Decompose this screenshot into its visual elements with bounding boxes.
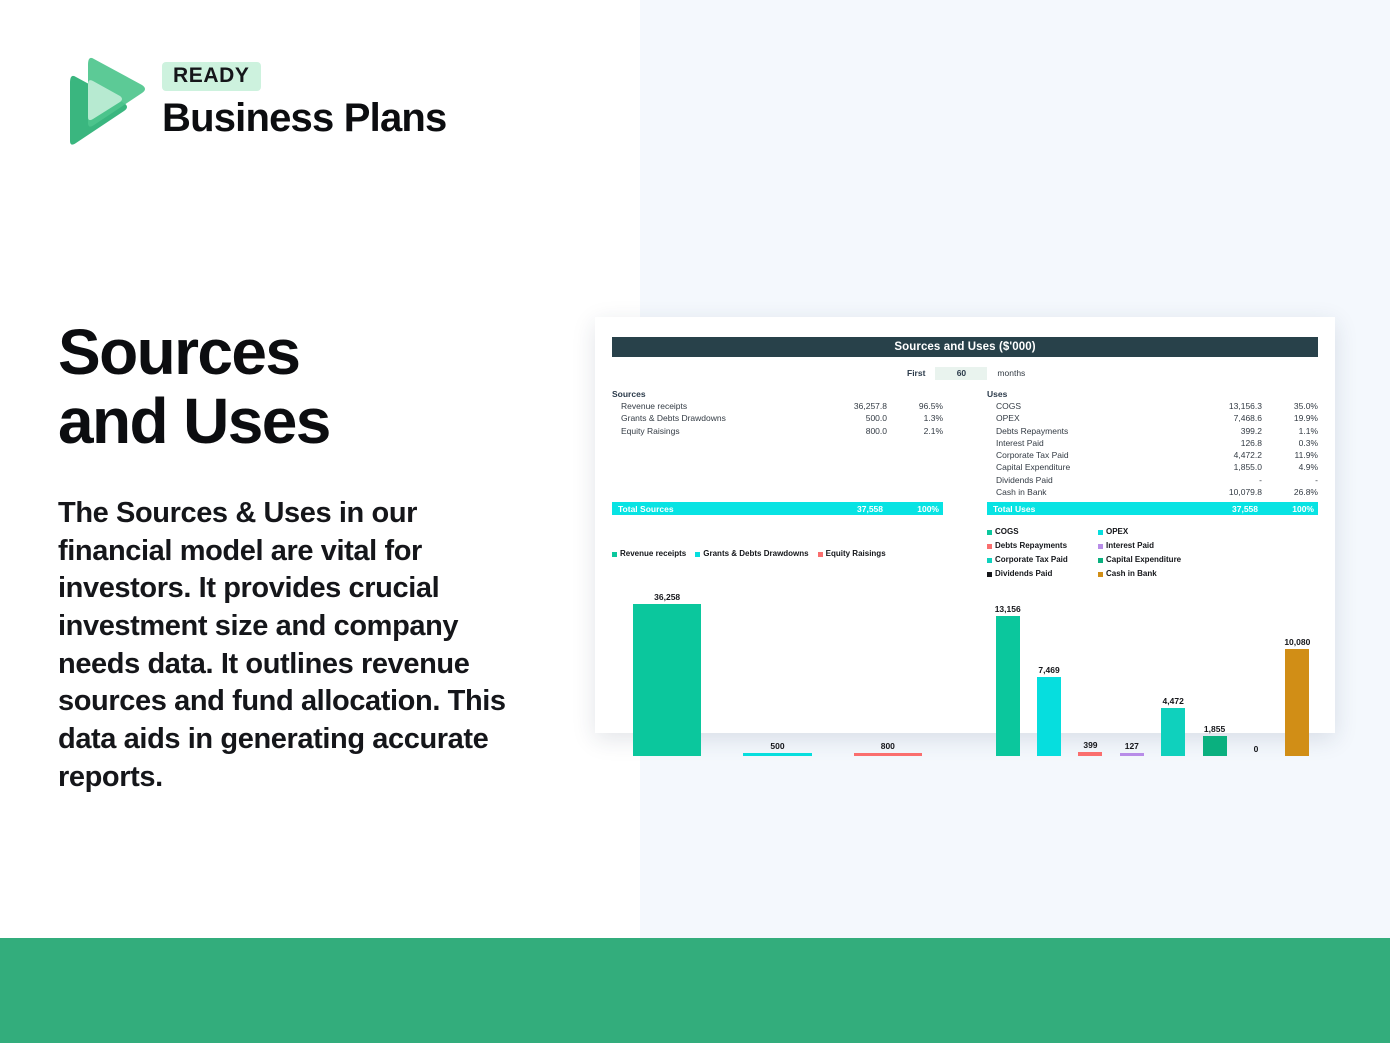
- row-value: 800.0: [815, 425, 887, 437]
- row-value: 399.2: [1190, 425, 1262, 437]
- row-pct: 2.1%: [887, 425, 943, 437]
- ready-badge: READY: [162, 62, 261, 92]
- sources-bar-chart: 36,258500800: [612, 588, 943, 756]
- legend-item: Capital Expenditure: [1098, 554, 1209, 566]
- bar-slot: 13,156: [987, 588, 1028, 756]
- chart-bar: [996, 616, 1020, 756]
- table-spacer: [612, 461, 943, 473]
- period-label: First: [907, 368, 925, 378]
- chart-bar: [1285, 649, 1309, 756]
- table-row: Debts Repayments 399.2 1.1%: [987, 425, 1318, 437]
- row-label: Interest Paid: [987, 437, 1190, 449]
- sheet-title: Sources and Uses ($'000): [612, 337, 1318, 357]
- period-unit-label: months: [997, 368, 1025, 378]
- row-value: 13,156.3: [1190, 400, 1262, 412]
- row-label: Debts Repayments: [987, 425, 1190, 437]
- sources-heading: Sources: [612, 389, 943, 399]
- total-pct: 100%: [883, 504, 943, 514]
- row-label: Cash in Bank: [987, 486, 1190, 498]
- legend-label: Cash in Bank: [1106, 568, 1157, 580]
- uses-total-row: Total Uses 37,558 100%: [987, 502, 1318, 515]
- uses-table: Uses COGS 13,156.3 35.0% OPEX 7,468.6 19…: [987, 389, 1318, 515]
- bar-value-label: 800: [881, 741, 895, 751]
- total-label: Total Uses: [987, 504, 1186, 514]
- row-value: 4,472.2: [1190, 449, 1262, 461]
- chart-bar: [1203, 736, 1227, 756]
- chart-bar: [743, 753, 811, 756]
- row-value: 1,855.0: [1190, 461, 1262, 473]
- row-label: Revenue receipts: [612, 400, 815, 412]
- table-row: Corporate Tax Paid 4,472.2 11.9%: [987, 449, 1318, 461]
- row-label: OPEX: [987, 412, 1190, 424]
- chart-bar: [1120, 753, 1144, 756]
- legend-swatch-icon: [818, 552, 823, 557]
- table-spacer: [612, 437, 943, 449]
- bar-slot: 399: [1070, 588, 1111, 756]
- bar-slot: 10,080: [1277, 588, 1318, 756]
- legend-label: Debts Repayments: [995, 540, 1067, 552]
- row-value: 10,079.8: [1190, 486, 1262, 498]
- bar-slot: 7,469: [1028, 588, 1069, 756]
- table-row: Grants & Debts Drawdowns 500.0 1.3%: [612, 412, 943, 424]
- row-value: 500.0: [815, 412, 887, 424]
- row-pct: 4.9%: [1262, 461, 1318, 473]
- chart-bar: [1037, 677, 1061, 756]
- spreadsheet-card: Sources and Uses ($'000) First months So…: [595, 317, 1335, 733]
- legend-swatch-icon: [987, 544, 992, 549]
- legend-swatch-icon: [987, 530, 992, 535]
- legend-item: Grants & Debts Drawdowns: [695, 526, 808, 582]
- legend-swatch-icon: [987, 572, 992, 577]
- table-row: Cash in Bank 10,079.8 26.8%: [987, 486, 1318, 498]
- table-row: Interest Paid 126.8 0.3%: [987, 437, 1318, 449]
- uses-chart-legend: COGSOPEXDebts RepaymentsInterest PaidCor…: [987, 526, 1318, 582]
- footer-bar: [0, 938, 1390, 1043]
- legend-swatch-icon: [695, 552, 700, 557]
- legend-label: Equity Raisings: [826, 548, 886, 560]
- table-row: Revenue receipts 36,257.8 96.5%: [612, 400, 943, 412]
- row-pct: 19.9%: [1262, 412, 1318, 424]
- legend-label: Capital Expenditure: [1106, 554, 1181, 566]
- bar-slot: 800: [833, 588, 943, 756]
- legend-item: Dividends Paid: [987, 568, 1098, 580]
- bar-value-label: 1,855: [1204, 724, 1225, 734]
- row-label: Corporate Tax Paid: [987, 449, 1190, 461]
- table-spacer: [612, 449, 943, 461]
- legend-label: Revenue receipts: [620, 548, 686, 560]
- table-row: Capital Expenditure 1,855.0 4.9%: [987, 461, 1318, 473]
- legend-label: Interest Paid: [1106, 540, 1154, 552]
- bar-slot: 1,855: [1194, 588, 1235, 756]
- table-row: Dividends Paid - -: [987, 474, 1318, 486]
- row-value: -: [1190, 474, 1262, 486]
- legend-swatch-icon: [1098, 530, 1103, 535]
- bar-value-label: 10,080: [1284, 637, 1310, 647]
- bar-value-label: 4,472: [1163, 696, 1184, 706]
- row-label: Dividends Paid: [987, 474, 1190, 486]
- row-pct: 1.1%: [1262, 425, 1318, 437]
- page-description: The Sources & Uses in our financial mode…: [58, 495, 528, 797]
- bar-value-label: 399: [1083, 740, 1097, 750]
- row-pct: -: [1262, 474, 1318, 486]
- row-pct: 96.5%: [887, 400, 943, 412]
- legend-item: Cash in Bank: [1098, 568, 1209, 580]
- total-value: 37,558: [811, 504, 883, 514]
- row-label: Equity Raisings: [612, 425, 815, 437]
- legend-swatch-icon: [612, 552, 617, 557]
- row-value: 126.8: [1190, 437, 1262, 449]
- legend-swatch-icon: [1098, 572, 1103, 577]
- bar-value-label: 0: [1254, 744, 1259, 754]
- row-pct: 11.9%: [1262, 449, 1318, 461]
- bar-value-label: 500: [770, 741, 784, 751]
- row-pct: 0.3%: [1262, 437, 1318, 449]
- period-control[interactable]: First months: [612, 364, 1318, 382]
- table-row: COGS 13,156.3 35.0%: [987, 400, 1318, 412]
- row-label: COGS: [987, 400, 1190, 412]
- row-label: Capital Expenditure: [987, 461, 1190, 473]
- chart-bar: [1078, 752, 1102, 756]
- legend-label: Dividends Paid: [995, 568, 1052, 580]
- row-pct: 1.3%: [887, 412, 943, 424]
- legend-swatch-icon: [1098, 558, 1103, 563]
- row-value: 7,468.6: [1190, 412, 1262, 424]
- legend-label: Corporate Tax Paid: [995, 554, 1068, 566]
- table-spacer: [612, 474, 943, 486]
- total-pct: 100%: [1258, 504, 1318, 514]
- legend-item: Debts Repayments: [987, 540, 1098, 552]
- brand-logo: READY Business Plans: [58, 55, 446, 147]
- chart-bar: [1161, 708, 1185, 756]
- row-pct: 26.8%: [1262, 486, 1318, 498]
- chart-bar: [854, 753, 922, 756]
- bar-slot: 36,258: [612, 588, 722, 756]
- table-spacer: [612, 486, 943, 498]
- period-months-input[interactable]: [935, 367, 987, 380]
- brand-name: Business Plans: [162, 96, 446, 140]
- legend-label: COGS: [995, 526, 1019, 538]
- sources-chart-legend: Revenue receiptsGrants & Debts Drawdowns…: [612, 526, 943, 582]
- total-label: Total Sources: [612, 504, 811, 514]
- sources-table: Sources Revenue receipts 36,257.8 96.5% …: [612, 389, 943, 515]
- chart-bar: [633, 604, 701, 756]
- legend-item: COGS: [987, 526, 1098, 538]
- sources-total-row: Total Sources 37,558 100%: [612, 502, 943, 515]
- play-triangle-logo-icon: [58, 55, 146, 147]
- legend-item: OPEX: [1098, 526, 1209, 538]
- row-pct: 35.0%: [1262, 400, 1318, 412]
- bar-slot: 4,472: [1153, 588, 1194, 756]
- bar-value-label: 127: [1125, 741, 1139, 751]
- table-row: OPEX 7,468.6 19.9%: [987, 412, 1318, 424]
- legend-swatch-icon: [1098, 544, 1103, 549]
- row-label: Grants & Debts Drawdowns: [612, 412, 815, 424]
- bar-value-label: 7,469: [1038, 665, 1059, 675]
- table-row: Equity Raisings 800.0 2.1%: [612, 425, 943, 437]
- legend-item: Corporate Tax Paid: [987, 554, 1098, 566]
- bar-slot: 0: [1235, 588, 1276, 756]
- legend-item: Revenue receipts: [612, 526, 686, 582]
- legend-label: OPEX: [1106, 526, 1128, 538]
- uses-bar-chart: 13,1567,4693991274,4721,855010,080: [987, 588, 1318, 756]
- bar-slot: 127: [1111, 588, 1152, 756]
- bar-slot: 500: [722, 588, 832, 756]
- legend-label: Grants & Debts Drawdowns: [703, 548, 808, 560]
- bar-value-label: 36,258: [654, 592, 680, 602]
- uses-heading: Uses: [987, 389, 1318, 399]
- bar-value-label: 13,156: [995, 604, 1021, 614]
- legend-item: Interest Paid: [1098, 540, 1209, 552]
- legend-item: Equity Raisings: [818, 526, 886, 582]
- legend-swatch-icon: [987, 558, 992, 563]
- row-value: 36,257.8: [815, 400, 887, 412]
- total-value: 37,558: [1186, 504, 1258, 514]
- page-title: Sources and Uses: [58, 318, 578, 456]
